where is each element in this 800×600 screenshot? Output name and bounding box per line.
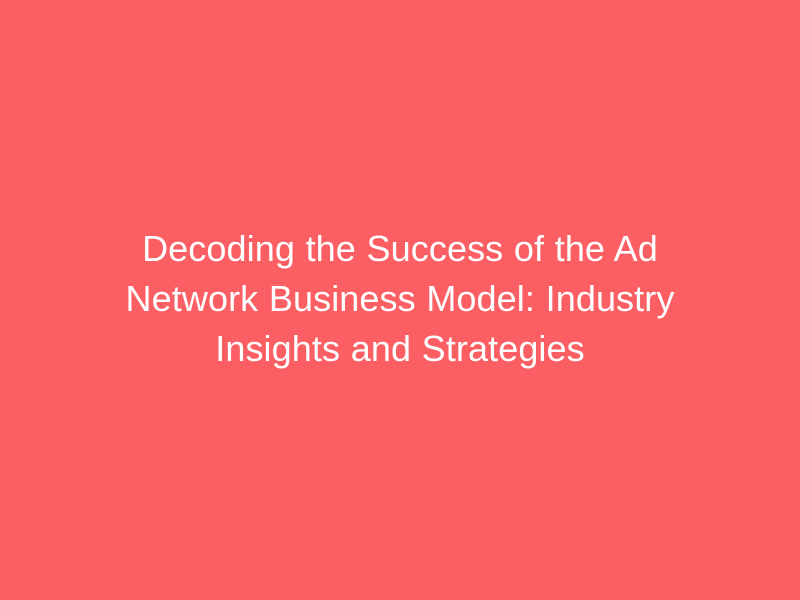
page-title: Decoding the Success of the Ad Network B…: [90, 224, 710, 374]
title-block: Decoding the Success of the Ad Network B…: [90, 224, 710, 374]
title-card: Decoding the Success of the Ad Network B…: [0, 0, 800, 600]
